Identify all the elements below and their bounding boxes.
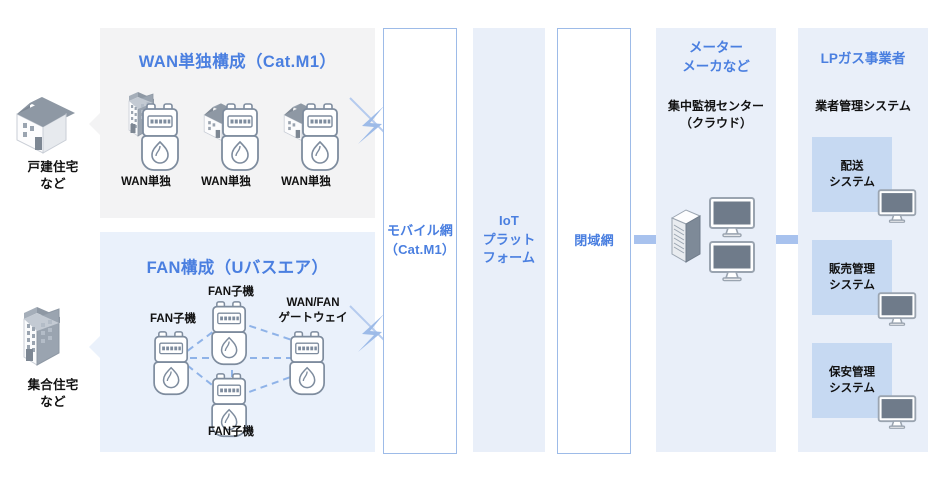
gas-meter-icon	[220, 102, 264, 174]
fan-node-left-caption: FAN子機	[131, 312, 215, 327]
column-iot-platform[interactable]: IoT プラット フォーム	[473, 28, 545, 452]
wan-device-2-caption: WAN単独	[193, 175, 259, 190]
gas-meter-icon	[288, 330, 330, 398]
zone-lp-gas-operator-subtitle: 業者管理システム	[798, 98, 928, 115]
connector-meter-to-lpgas	[776, 235, 798, 244]
zone-lp-gas-operator-title: LPガス事業者	[798, 50, 928, 69]
zone-meter-maker-subtitle: 集中監視センター （クラウド）	[656, 98, 776, 132]
fan-node-left	[152, 330, 194, 398]
monitor-icon	[877, 188, 917, 224]
wan-device-1-caption: WAN単独	[113, 175, 179, 190]
column-mobile-network[interactable]: モバイル網 （Cat.M1）	[383, 28, 457, 454]
server-icon	[664, 208, 704, 264]
system-card-delivery-label: 配送 システム	[812, 158, 892, 191]
lightning-bolt-icon	[358, 314, 384, 352]
gas-meter-icon	[152, 330, 194, 398]
fan-node-top-caption: FAN子機	[189, 285, 273, 300]
column-mobile-network-label: モバイル網 （Cat.M1）	[385, 222, 455, 260]
panel-fan-title: FAN構成（Uバスエア）	[100, 254, 375, 278]
connector-closed-to-meter	[634, 235, 656, 244]
panel-wan-title: WAN単独構成（Cat.M1）	[100, 48, 375, 72]
lightning-bolt-icon	[358, 106, 384, 144]
fan-node-bottom-caption: FAN子機	[189, 425, 273, 440]
gas-meter-icon	[140, 102, 184, 174]
zone-meter-maker-title: メーター メーカなど	[656, 39, 776, 77]
monitor-icon	[708, 196, 756, 238]
column-closed-network-label: 閉域網	[574, 232, 614, 251]
column-iot-platform-label: IoT プラット フォーム	[483, 212, 536, 269]
gas-meter-icon	[300, 102, 344, 174]
building-icon	[7, 305, 77, 373]
network-architecture-diagram: WAN単独構成（Cat.M1） FAN構成（Uバスエア） 戸建住宅 など	[0, 0, 950, 480]
monitor-icon	[877, 291, 917, 327]
endpoint-detached-house: 戸建住宅 など	[7, 93, 99, 192]
system-card-safety-label: 保安管理 システム	[812, 364, 892, 397]
wan-device-3-caption: WAN単独	[273, 175, 339, 190]
system-card-sales-label: 販売管理 システム	[812, 261, 892, 294]
column-closed-network[interactable]: 閉域網	[557, 28, 631, 454]
endpoint-apartment-label: 集合住宅 など	[7, 377, 99, 410]
endpoint-apartment: 集合住宅 など	[7, 305, 99, 410]
gas-meter-icon	[210, 300, 252, 368]
endpoint-detached-house-label: 戸建住宅 など	[7, 159, 99, 192]
monitor-icon	[708, 240, 756, 282]
house-icon	[7, 93, 77, 155]
fan-node-gateway	[288, 330, 330, 398]
fan-node-top	[210, 300, 252, 368]
monitor-icon	[877, 394, 917, 430]
